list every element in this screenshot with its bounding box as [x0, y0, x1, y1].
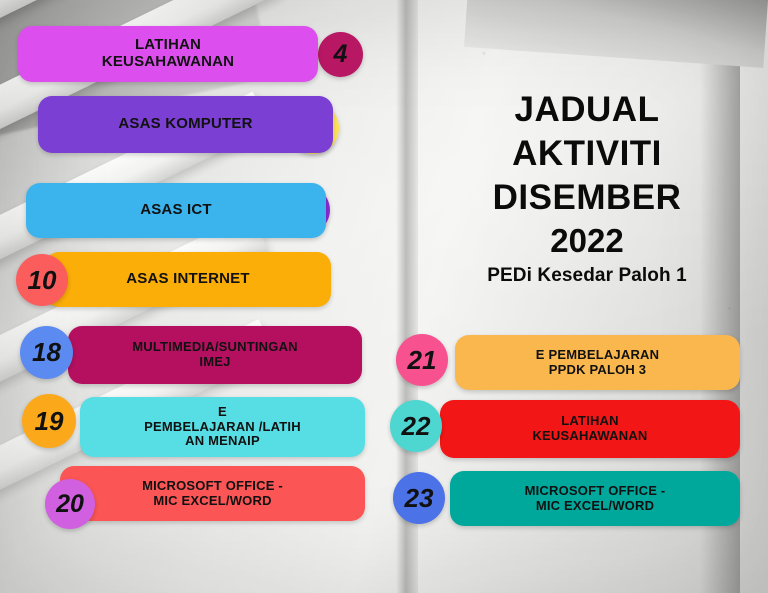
activity-bar[interactable]: ASAS ICT: [26, 183, 326, 238]
activity-bar[interactable]: E PEMBELAJARAN PPDK PALOH 3: [455, 335, 740, 390]
activity-bar[interactable]: LATIHAN KEUSAHAWANAN: [440, 400, 740, 458]
activity-bar[interactable]: ASAS INTERNET: [45, 252, 331, 307]
activity-day-badge[interactable]: 22: [390, 400, 442, 452]
activity-bar[interactable]: MICROSOFT OFFICE - MIC EXCEL/WORD: [60, 466, 365, 521]
heading-line-1: JADUAL: [432, 88, 742, 132]
activity-bar[interactable]: E PEMBELAJARAN /LATIH AN MENAIP: [80, 397, 365, 457]
activity-day-badge[interactable]: 19: [22, 394, 76, 448]
activity-day-badge[interactable]: 18: [20, 326, 73, 379]
heading-line-3: DISEMBER: [432, 176, 742, 220]
poster-content: JADUAL AKTIVITI DISEMBER 2022 PEDi Kesed…: [0, 0, 768, 593]
activity-day-badge[interactable]: 4: [318, 32, 363, 77]
activity-day-badge[interactable]: 10: [16, 254, 68, 306]
activity-bar[interactable]: MULTIMEDIA/SUNTINGAN IMEJ: [68, 326, 362, 384]
poster-heading: JADUAL AKTIVITI DISEMBER 2022 PEDi Kesed…: [432, 88, 742, 287]
activity-day-badge[interactable]: 20: [45, 479, 95, 529]
activity-bar[interactable]: MICROSOFT OFFICE - MIC EXCEL/WORD: [450, 471, 740, 526]
activity-bar[interactable]: LATIHAN KEUSAHAWANAN: [18, 26, 318, 82]
activity-bar[interactable]: ASAS KOMPUTER: [38, 96, 333, 153]
heading-line-2: AKTIVITI: [432, 132, 742, 176]
heading-subtitle: PEDi Kesedar Paloh 1: [432, 265, 742, 287]
activity-day-badge[interactable]: 23: [393, 472, 445, 524]
heading-year: 2022: [432, 220, 742, 263]
activity-day-badge[interactable]: 21: [396, 334, 448, 386]
